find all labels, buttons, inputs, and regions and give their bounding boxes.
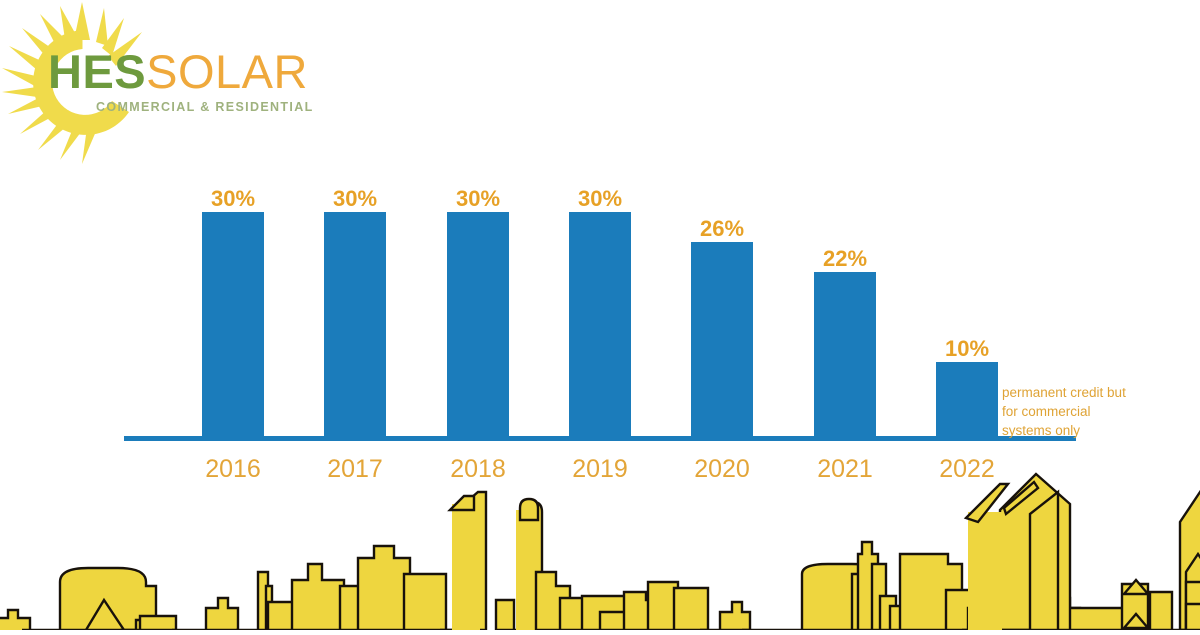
chart-annotation-line-2: for commercial [1002, 402, 1142, 421]
chart-bar-group-2022: 10%2022 [936, 0, 998, 437]
chart-bar-value-2022: 10% [936, 336, 998, 362]
chart-bar-2018[interactable] [447, 212, 509, 437]
chart-bar-value-2021: 22% [814, 246, 876, 272]
chart-bar-2017[interactable] [324, 212, 386, 437]
chart-annotation-2022: permanent credit butfor commercialsystem… [1002, 383, 1142, 440]
chart-bar-2019[interactable] [569, 212, 631, 437]
chart-bar-value-2018: 30% [447, 186, 509, 212]
chart-bar-group-2017: 30%2017 [324, 0, 386, 437]
chart-bar-value-2016: 30% [202, 186, 264, 212]
chart-bar-value-2020: 26% [691, 216, 753, 242]
chart-annotation-line-1: permanent credit but [1002, 383, 1142, 402]
chart-bar-2016[interactable] [202, 212, 264, 437]
chart-bar-group-2016: 30%2016 [202, 0, 264, 437]
chart-bar-2020[interactable] [691, 242, 753, 437]
chart-bar-value-2017: 30% [324, 186, 386, 212]
chart-bar-group-2019: 30%2019 [569, 0, 631, 437]
tax-credit-bar-chart: 30%201630%201730%201830%201926%202022%20… [0, 0, 1200, 500]
chart-annotation-line-3: systems only [1002, 421, 1142, 440]
chart-bar-group-2018: 30%2018 [447, 0, 509, 437]
chart-bar-group-2021: 22%2021 [814, 0, 876, 437]
city-skyline-graphic [0, 470, 1200, 630]
chart-bar-value-2019: 30% [569, 186, 631, 212]
chart-bar-2021[interactable] [814, 272, 876, 437]
chart-bar-2022[interactable] [936, 362, 998, 437]
chart-bar-group-2020: 26%2020 [691, 0, 753, 437]
